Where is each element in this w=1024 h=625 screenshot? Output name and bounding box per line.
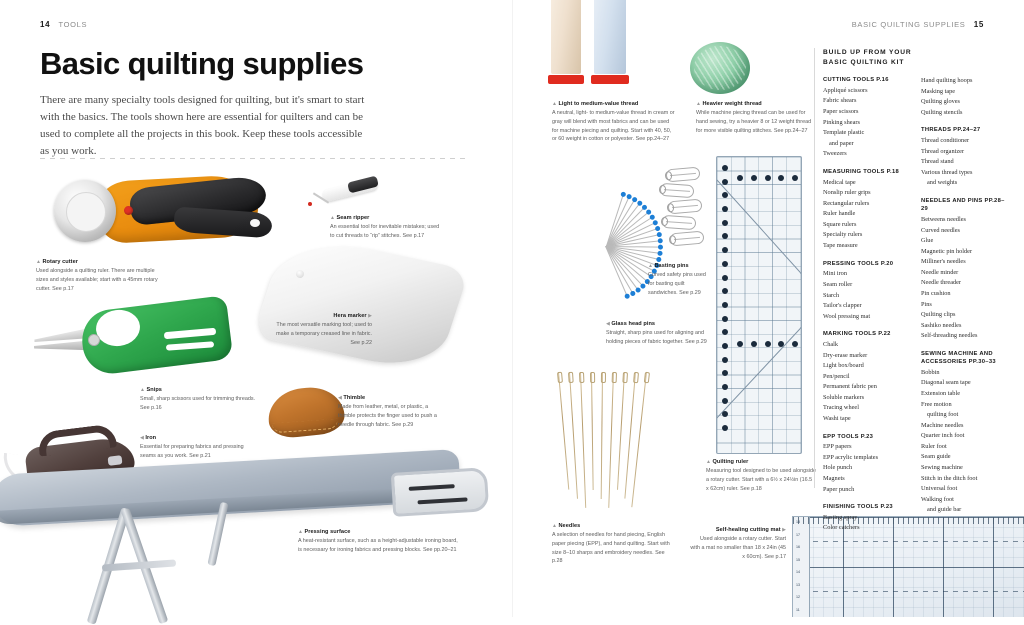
ruler-marker-dot xyxy=(722,275,728,281)
sidebar-group: CUTTING TOOLS P.16Appliqué scissorsFabri… xyxy=(823,76,911,160)
caption-heavier-thread: ▲ Heavier weight thread While machine pi… xyxy=(696,100,812,135)
sidebar-group-heading: PRESSING TOOLS P.20 xyxy=(823,260,911,268)
sidebar-group-heading: NEEDLES AND PINS PP.28–29 xyxy=(921,197,1009,213)
sidebar-list-item: Machine needles xyxy=(921,421,1009,432)
sidebar-list-item: Sashiko needles xyxy=(921,321,1009,332)
cutting-mat-scale-label: 13 xyxy=(796,583,800,587)
basting-pins-illustration xyxy=(660,168,720,258)
sidebar-list-item: Quilting stencils xyxy=(921,108,1009,119)
caption-marker-icon: ▲ xyxy=(552,101,557,107)
caption-marker-icon: ▲ xyxy=(648,263,653,269)
ruler-marker-dot xyxy=(722,384,728,390)
sidebar-list-item: Stitch in the ditch foot xyxy=(921,474,1009,485)
caption-quilting-ruler: ▲ Quilting ruler Measuring tool designed… xyxy=(706,458,816,493)
caption-body: Curved safety pins used for basting quil… xyxy=(648,272,706,296)
sidebar-list-item: Quilting clips xyxy=(921,310,1009,321)
sidebar-list-item: Ruler handle xyxy=(823,209,911,220)
sidebar-list-item: EPP acrylic templates xyxy=(823,453,911,464)
caption-marker-icon: ▲ xyxy=(298,529,303,535)
ruler-marker-dot xyxy=(765,175,771,181)
ruler-marker-dot xyxy=(737,341,743,347)
sidebar-group-heading: FINISHING TOOLS P.23 xyxy=(823,503,911,511)
caption-body: Used alongside a quilting ruler. There a… xyxy=(36,268,158,292)
ruler-marker-dot xyxy=(722,316,728,322)
caption-title: Quilting ruler xyxy=(712,459,748,465)
sidebar-title-line1: BUILD UP FROM YOUR xyxy=(823,48,1010,58)
caption-needles: ▲ Needles A selection of needles for han… xyxy=(552,522,676,566)
sidebar-group-heading: MEASURING TOOLS P.18 xyxy=(823,168,911,176)
sidebar-list-item: Medical tape xyxy=(823,178,911,189)
sidebar-list-item: Paper scissors xyxy=(823,107,911,118)
caption-marker-icon: ▲ xyxy=(140,387,145,393)
cutting-mat-scale-label: 11 xyxy=(796,608,800,612)
thread-spool-blue xyxy=(594,0,626,84)
sidebar-list-item: Sewing machine xyxy=(921,463,1009,474)
caption-title: Rotary cutter xyxy=(42,259,78,265)
sidebar-list-item: Thread organizer xyxy=(921,147,1009,158)
sidebar-list-item: Walking foot xyxy=(921,495,1009,506)
sidebar-group: FINISHING TOOLS P.23Basting sprayColor c… xyxy=(823,503,911,534)
ruler-marker-dot xyxy=(778,175,784,181)
sidebar-group: MEASURING TOOLS P.18Medical tapeNonslip … xyxy=(823,168,911,252)
sidebar-list-item: Rectangular rulers xyxy=(823,199,911,210)
ruler-marker-dot xyxy=(722,179,728,185)
running-head-right: BASIC QUILTING SUPPLIES 15 xyxy=(852,20,984,29)
sidebar-list-item: EPP papers xyxy=(823,442,911,453)
hand-needle xyxy=(558,372,570,490)
basting-safety-pin xyxy=(665,167,700,183)
caption-title: Heavier weight thread xyxy=(702,101,761,107)
left-page: 14 TOOLS Basic quilting supplies There a… xyxy=(0,0,512,617)
sidebar-list-item: Milliner's needles xyxy=(921,257,1009,268)
sidebar-list-item: Washi tape xyxy=(823,414,911,425)
cutting-mat-scale-label: 14 xyxy=(796,570,800,574)
sidebar-list-item: Hand quilting hoops xyxy=(921,76,1009,87)
dashed-divider xyxy=(40,158,470,159)
sidebar-column-2: Hand quilting hoopsMasking tapeQuilting … xyxy=(921,76,1009,542)
basting-safety-pin xyxy=(667,199,702,215)
caption-title: Needles xyxy=(558,523,580,529)
sidebar-list-item: Masking tape xyxy=(921,87,1009,98)
thread-spool-cream-base xyxy=(548,75,584,84)
ruler-marker-dot xyxy=(722,411,728,417)
ruler-marker-dot xyxy=(792,175,798,181)
sidebar-list-item: Magnets xyxy=(823,474,911,485)
caption-title: Thimble xyxy=(343,395,365,401)
iron-rest-slot-upper xyxy=(409,484,455,491)
sidebar-list-item: Seam roller xyxy=(823,280,911,291)
sidebar-group-heading: CUTTING TOOLS P.16 xyxy=(823,76,911,84)
ruler-marker-dot xyxy=(722,165,728,171)
intro-paragraph: There are many specialty tools designed … xyxy=(40,92,370,160)
ruler-marker-dot xyxy=(722,247,728,253)
caption-body: Made from leather, metal, or plastic, a … xyxy=(338,404,437,428)
hera-marker-illustration xyxy=(268,248,454,368)
sidebar-list-item: Thread conditioner xyxy=(921,136,1009,147)
page-gutter xyxy=(512,0,513,617)
sidebar-list-item: Seam guide xyxy=(921,452,1009,463)
glass-head-pins-illustration xyxy=(548,168,668,328)
caption-body: A neutral, light- to medium-value thread… xyxy=(552,110,675,142)
sidebar-list-item: Nonslip ruler grips xyxy=(823,188,911,199)
caption-marker-icon: ▶ xyxy=(782,527,786,533)
sidebar-list-item: Thread stand xyxy=(921,157,1009,168)
ruler-marker-dot xyxy=(722,206,728,212)
caption-marker-icon: ◀ xyxy=(140,435,144,441)
caption-marker-icon: ▲ xyxy=(696,101,701,107)
caption-body: A selection of needles for hand piecing,… xyxy=(552,532,670,564)
ruler-marker-dot xyxy=(751,341,757,347)
caption-body: While machine piecing thread can be used… xyxy=(696,110,811,134)
ruler-marker-dot xyxy=(722,329,728,335)
sidebar-group-heading: MARKING TOOLS P.22 xyxy=(823,330,911,338)
sidebar-list-item: Needle minder xyxy=(921,268,1009,279)
caption-hera-marker: Hera marker ▶ The most versatile marking… xyxy=(268,312,372,347)
cutting-mat-scale-label: 16 xyxy=(796,545,800,549)
sidebar-group: EPP TOOLS P.23EPP papersEPP acrylic temp… xyxy=(823,433,911,496)
ruler-grid-horizontal xyxy=(717,157,801,453)
ruler-marker-dot xyxy=(722,302,728,308)
thimble-illustration xyxy=(268,388,344,444)
basting-safety-pin xyxy=(662,215,697,230)
quilting-ruler-illustration xyxy=(716,156,802,454)
ruler-marker-dot xyxy=(722,343,728,349)
caption-cutting-mat: Self-healing cutting mat ▶ Used alongsid… xyxy=(690,526,786,561)
sidebar-list-item: and guide bar xyxy=(921,505,1009,516)
hand-needle xyxy=(591,372,594,490)
ruler-marker-dot xyxy=(751,175,757,181)
caption-title: Self-healing cutting mat xyxy=(716,527,781,533)
folio-left: 14 xyxy=(40,20,50,29)
sidebar-list-item: Specialty rulers xyxy=(823,230,911,241)
basting-safety-pin xyxy=(660,183,695,198)
caption-title: Hera marker xyxy=(333,313,366,319)
seam-ripper-ball xyxy=(308,202,312,206)
ruler-marker-dot xyxy=(722,288,728,294)
sidebar-list-item: Template plastic xyxy=(823,128,911,139)
caption-title: Iron xyxy=(145,435,156,441)
caption-title: Snips xyxy=(146,387,162,393)
sidebar-list-item: quilting foot xyxy=(921,410,1009,421)
basting-safety-pin xyxy=(669,231,704,247)
folio-right: 15 xyxy=(974,20,984,29)
snips-illustration xyxy=(34,300,234,380)
sidebar-list-item: Square rulers xyxy=(823,220,911,231)
caption-marker-icon: ◀ xyxy=(606,321,610,327)
sidebar-list-item: Betweens needles xyxy=(921,215,1009,226)
ruler-marker-dot xyxy=(765,341,771,347)
caption-snips: ▲ Snips Small, sharp scissors used for t… xyxy=(140,386,258,413)
ruler-dot-row-top xyxy=(737,175,798,181)
sidebar-list-item: Ruler foot xyxy=(921,442,1009,453)
sidebar-list-item: Various thread types xyxy=(921,168,1009,179)
thread-spool-blue-base xyxy=(591,75,629,84)
sidebar-list-item: Free motion xyxy=(921,400,1009,411)
rotary-cutter-blade xyxy=(54,180,116,242)
sidebar-list-item: Tweezers xyxy=(823,149,911,160)
caption-marker-icon: ▲ xyxy=(706,459,711,465)
sidebar-list-item: Tracing wheel xyxy=(823,403,911,414)
sidebar-group-heading: EPP TOOLS P.23 xyxy=(823,433,911,441)
perle-cotton-ball xyxy=(690,42,750,94)
cutting-mat-scale-label: 17 xyxy=(796,533,800,537)
ruler-marker-dot xyxy=(722,357,728,363)
caption-marker-icon: ▲ xyxy=(552,523,557,529)
cutting-mat-scale-strip: 1817161514131211 xyxy=(793,517,810,617)
ruler-marker-dot xyxy=(722,425,728,431)
ironing-board-iron-rest xyxy=(391,467,490,517)
sidebar-list-item: Basting spray xyxy=(823,513,911,524)
sidebar-list-item: Tape measure xyxy=(823,241,911,252)
caption-rotary-cutter: ▲ Rotary cutter Used alongside a quiltin… xyxy=(36,258,168,293)
ruler-dot-row-middle xyxy=(737,341,798,347)
sidebar-list-item: Pinking shears xyxy=(823,118,911,129)
sidebar-title: BUILD UP FROM YOUR BASIC QUILTING KIT xyxy=(823,48,1010,67)
hand-needle xyxy=(608,372,614,508)
ruler-marker-dot xyxy=(722,370,728,376)
sidebar-list-item: and paper xyxy=(823,139,911,150)
sidebar-list-item: Magnetic pin holder xyxy=(921,247,1009,258)
sidebar-list-item: Color catchers xyxy=(823,523,911,534)
ruler-marker-dot xyxy=(722,398,728,404)
caption-pressing-surface: ▲ Pressing surface A heat-resistant surf… xyxy=(298,528,460,555)
ruler-marker-dot xyxy=(737,175,743,181)
book-spread: 14 TOOLS Basic quilting supplies There a… xyxy=(0,0,1024,617)
ruler-marker-dot xyxy=(722,192,728,198)
caption-seam-ripper: ▲ Seam ripper An essential tool for inev… xyxy=(330,214,442,241)
hand-needle xyxy=(569,372,578,499)
sidebar-group: PRESSING TOOLS P.20Mini ironSeam rollerS… xyxy=(823,260,911,323)
sidebar-group: NEEDLES AND PINS PP.28–29Betweens needle… xyxy=(921,197,1009,342)
sidebar-build-up-kit: BUILD UP FROM YOUR BASIC QUILTING KIT CU… xyxy=(814,48,1010,488)
rotary-cutter-hole xyxy=(250,219,260,227)
caption-title: Light to medium-value thread xyxy=(558,101,638,107)
sidebar-group-heading: THREADS PP.24–27 xyxy=(921,126,1009,134)
sidebar-list-item: Soluble markers xyxy=(823,393,911,404)
sidebar-list-item: Pen/pencil xyxy=(823,372,911,383)
sidebar-list-item: Paper punch xyxy=(823,485,911,496)
sidebar-list-item: Hole punch xyxy=(823,463,911,474)
running-head-left: 14 TOOLS xyxy=(40,20,87,29)
sidebar-list-item: Light box/board xyxy=(823,361,911,372)
cutting-mat-scale-label: 15 xyxy=(796,558,800,562)
hand-needles-illustration xyxy=(552,370,672,520)
caption-marker-icon: ▲ xyxy=(36,259,41,265)
rotary-cutter-illustration xyxy=(46,172,258,250)
sidebar-list-item: Starch xyxy=(823,291,911,302)
sidebar-column-1: CUTTING TOOLS P.16Appliqué scissorsFabri… xyxy=(823,76,911,542)
ruler-marker-dot xyxy=(792,341,798,347)
sidebar-list-item: Pin cushion xyxy=(921,289,1009,300)
sidebar-list-item: Quilting gloves xyxy=(921,97,1009,108)
sidebar-list-item: Mini iron xyxy=(823,269,911,280)
caption-body: A heat-resistant surface, such as a heig… xyxy=(298,538,458,553)
hand-needle xyxy=(617,372,625,490)
caption-body: Essential for preparing fabrics and pres… xyxy=(140,444,244,459)
sidebar-list-item: Pins xyxy=(921,300,1009,311)
sidebar-list-item: Extension table xyxy=(921,389,1009,400)
sidebar-columns: CUTTING TOOLS P.16Appliqué scissorsFabri… xyxy=(823,76,1010,542)
sidebar-list-item: Self-threading needles xyxy=(921,331,1009,342)
sidebar-list-item: Glue xyxy=(921,236,1009,247)
caption-marker-icon: ▲ xyxy=(330,215,335,221)
caption-basting-pins: ▲ Basting pins Curved safety pins used f… xyxy=(648,262,710,297)
caption-body: Measuring tool designed to be used along… xyxy=(706,468,816,492)
sidebar-group-heading: SEWING MACHINE AND ACCESSORIES PP.30–33 xyxy=(921,350,1009,366)
caption-body: Small, sharp scissors used for trimming … xyxy=(140,396,255,411)
ruler-dot-column xyxy=(722,165,728,439)
ruler-marker-dot xyxy=(778,341,784,347)
ruler-marker-dot xyxy=(722,220,728,226)
running-head-right-label: BASIC QUILTING SUPPLIES xyxy=(852,20,966,29)
sidebar-group: SEWING MACHINE AND ACCESSORIES PP.30–33B… xyxy=(921,350,1009,516)
ruler-marker-dot xyxy=(722,261,728,267)
caption-marker-icon: ◀ xyxy=(338,395,342,401)
caption-title: Pressing surface xyxy=(304,529,350,535)
caption-body: The most versatile marking tool; used to… xyxy=(276,322,372,346)
sidebar-list-item: Curved needles xyxy=(921,226,1009,237)
thread-spool-blue-body xyxy=(594,0,626,74)
caption-body: Used alongside a rotary cutter. Start wi… xyxy=(690,536,786,560)
sidebar-list-item: Fabric shears xyxy=(823,96,911,107)
sidebar-list-item: Dry-erase marker xyxy=(823,351,911,362)
sidebar-list-item: Bobbin xyxy=(921,368,1009,379)
sidebar-list-item: and weights xyxy=(921,178,1009,189)
hand-needle xyxy=(601,372,604,499)
sidebar-title-line2: BASIC QUILTING KIT xyxy=(823,58,1010,68)
caption-body: Straight, sharp pins used for aligning a… xyxy=(606,330,707,345)
sidebar-list-item: Needle threader xyxy=(921,278,1009,289)
sidebar-group: Hand quilting hoopsMasking tapeQuilting … xyxy=(921,76,1009,118)
sidebar-group: THREADS PP.24–27Thread conditionerThread… xyxy=(921,126,1009,189)
caption-thimble: ◀ Thimble Made from leather, metal, or p… xyxy=(338,394,444,429)
sidebar-list-item: Chalk xyxy=(823,340,911,351)
thread-spool-cream xyxy=(551,0,581,84)
caption-title: Glass head pins xyxy=(611,321,655,327)
caption-glass-head-pins: ◀ Glass head pins Straight, sharp pins u… xyxy=(606,320,708,347)
sidebar-list-item: Appliqué scissors xyxy=(823,86,911,97)
sidebar-list-item: Wool pressing mat xyxy=(823,312,911,323)
cutting-mat-scale-label: 12 xyxy=(796,595,800,599)
caption-body: An essential tool for inevitable mistake… xyxy=(330,224,439,239)
hand-needle xyxy=(580,372,587,508)
iron-rest-slot-lower xyxy=(417,497,467,504)
sidebar-list-item: Universal foot xyxy=(921,484,1009,495)
hera-marker-body xyxy=(253,231,470,375)
running-head-left-label: TOOLS xyxy=(59,20,88,29)
thread-spool-cream-body xyxy=(551,0,581,74)
caption-marker-icon: ▶ xyxy=(368,313,372,319)
caption-title: Basting pins xyxy=(654,263,688,269)
rotary-cutter-safety-button xyxy=(124,206,133,215)
page-title: Basic quilting supplies xyxy=(40,48,440,81)
caption-light-thread: ▲ Light to medium-value thread A neutral… xyxy=(552,100,676,144)
sidebar-list-item: Diagonal seam tape xyxy=(921,378,1009,389)
sidebar-group: MARKING TOOLS P.22ChalkDry-erase markerL… xyxy=(823,330,911,424)
caption-iron: ◀ Iron Essential for preparing fabrics a… xyxy=(140,434,244,461)
sidebar-list-item: Tailor's clapper xyxy=(823,301,911,312)
sidebar-list-item: Permanent fabric pen xyxy=(823,382,911,393)
ruler-marker-dot xyxy=(722,233,728,239)
caption-title: Seam ripper xyxy=(336,215,369,221)
sidebar-list-item: Quarter inch foot xyxy=(921,431,1009,442)
